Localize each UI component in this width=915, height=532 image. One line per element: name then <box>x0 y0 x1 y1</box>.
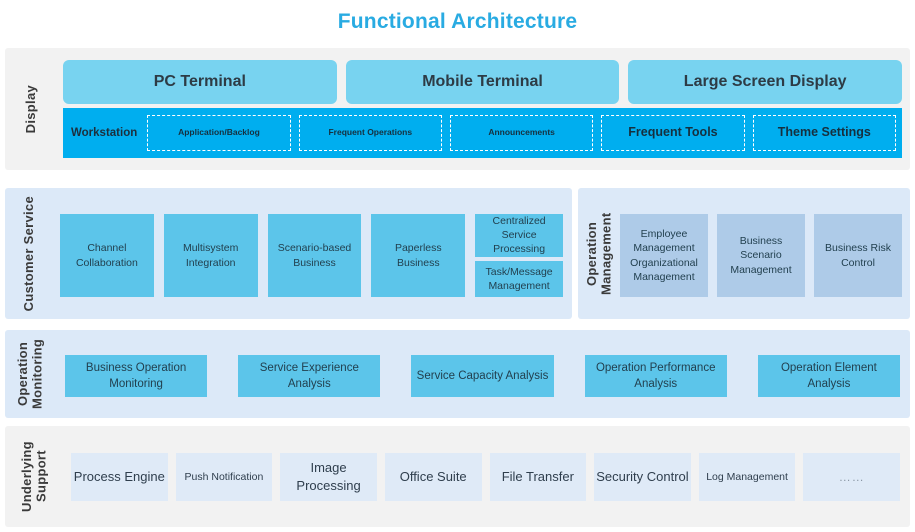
customer-service-box-centralized-service-processing[interactable]: Centralized Service Processing <box>475 214 563 257</box>
customer-service-box-scenario-based-business[interactable]: Scenario-based Business <box>268 214 362 297</box>
underlying-support-label-image-processing: Image Processing <box>282 459 375 494</box>
customer-service-label-channel-collaboration: Channel Collaboration <box>63 241 151 269</box>
operation-management-box-business-scenario-management[interactable]: Business Scenario Management <box>717 214 805 297</box>
operation-monitoring-label-service-experience-analysis: Service Experience Analysis <box>241 360 377 392</box>
workstation-chip-label-application-backlog: Application/Backlog <box>178 128 260 137</box>
customer-service-box-channel-collaboration[interactable]: Channel Collaboration <box>60 214 154 297</box>
customer-service-label-scenario-based-business: Scenario-based Business <box>271 241 359 269</box>
operation-monitoring-section-label-text: Operation Monitoring <box>16 330 45 418</box>
customer-service-section-label-text: Customer Service <box>22 196 37 311</box>
underlying-support-box-push-notification[interactable]: Push Notification <box>176 453 273 501</box>
operation-monitoring-box-service-capacity-analysis[interactable]: Service Capacity Analysis <box>411 355 553 397</box>
underlying-support-box-image-processing[interactable]: Image Processing <box>280 453 377 501</box>
customer-service-label-paperless-business: Paperless Business <box>374 241 462 269</box>
customer-service-label-task-message-management: Task/Message Management <box>478 265 560 293</box>
underlying-support-label-push-notification: Push Notification <box>185 470 264 484</box>
workstation-chip-label-announcements: Announcements <box>488 128 555 137</box>
underlying-support-label-security-control: Security Control <box>596 468 688 486</box>
customer-service-section-label: Customer Service <box>5 188 53 319</box>
operation-monitoring-box-service-experience-analysis[interactable]: Service Experience Analysis <box>238 355 380 397</box>
operation-management-label-business-risk-control: Business Risk Control <box>817 241 899 269</box>
underlying-support-label-log-management: Log Management <box>706 470 788 484</box>
workstation-chip-label-theme-settings: Theme Settings <box>778 126 871 140</box>
operation-management-box-business-risk-control[interactable]: Business Risk Control <box>814 214 902 297</box>
operation-management-section-label: Operation Management <box>578 188 622 319</box>
customer-service-label-centralized-service-processing: Centralized Service Processing <box>478 214 560 257</box>
underlying-support-section: Underlying Support Process Engine Push N… <box>5 426 910 527</box>
operation-monitoring-box-operation-element-analysis[interactable]: Operation Element Analysis <box>758 355 900 397</box>
operation-management-label-business-scenario-management: Business Scenario Management <box>720 234 802 277</box>
terminal-label-pc: PC Terminal <box>154 73 246 91</box>
underlying-support-label-more: …… <box>839 469 865 485</box>
workstation-chip-label-frequent-operations: Frequent Operations <box>328 128 412 137</box>
terminal-row: PC Terminal Mobile Terminal Large Screen… <box>63 60 902 104</box>
customer-service-box-row: Channel Collaboration Multisystem Integr… <box>60 214 563 297</box>
operation-management-box-employee-management[interactable]: Employee Management Organizational Manag… <box>620 214 708 297</box>
terminal-label-mobile: Mobile Terminal <box>422 73 543 91</box>
terminal-box-mobile[interactable]: Mobile Terminal <box>346 60 620 104</box>
underlying-support-box-file-transfer[interactable]: File Transfer <box>490 453 587 501</box>
operation-monitoring-label-service-capacity-analysis: Service Capacity Analysis <box>417 368 549 384</box>
workstation-chip-application-backlog[interactable]: Application/Backlog <box>147 115 290 151</box>
underlying-support-box-process-engine[interactable]: Process Engine <box>71 453 168 501</box>
workstation-bar: Workstation Application/Backlog Frequent… <box>63 108 902 158</box>
underlying-support-label-file-transfer: File Transfer <box>502 468 574 486</box>
customer-service-box-paperless-business[interactable]: Paperless Business <box>371 214 465 297</box>
operation-monitoring-label-business-operation-monitoring: Business Operation Monitoring <box>68 360 204 392</box>
underlying-support-box-office-suite[interactable]: Office Suite <box>385 453 482 501</box>
terminal-box-large-screen[interactable]: Large Screen Display <box>628 60 902 104</box>
workstation-chip-frequent-operations[interactable]: Frequent Operations <box>299 115 442 151</box>
underlying-support-section-label-text: Underlying Support <box>20 426 49 527</box>
operation-management-section-label-text: Operation Management <box>585 188 614 319</box>
workstation-chip-theme-settings[interactable]: Theme Settings <box>753 115 896 151</box>
operation-monitoring-label-operation-element-analysis: Operation Element Analysis <box>761 360 897 392</box>
customer-service-box-multisystem-integration[interactable]: Multisystem Integration <box>164 214 258 297</box>
customer-service-box-task-message-management[interactable]: Task/Message Management <box>475 261 563 297</box>
customer-service-section: Customer Service Channel Collaboration M… <box>5 188 572 319</box>
customer-service-split-column: Centralized Service Processing Task/Mess… <box>475 214 563 297</box>
display-section-label-text: Display <box>24 85 39 133</box>
underlying-support-section-label: Underlying Support <box>5 426 65 527</box>
operation-monitoring-box-operation-performance-analysis[interactable]: Operation Performance Analysis <box>585 355 727 397</box>
operation-monitoring-box-row: Business Operation Monitoring Service Ex… <box>65 355 900 397</box>
customer-service-label-multisystem-integration: Multisystem Integration <box>167 241 255 269</box>
terminal-label-large-screen: Large Screen Display <box>684 73 847 91</box>
workstation-chip-announcements[interactable]: Announcements <box>450 115 593 151</box>
operation-monitoring-box-business-operation-monitoring[interactable]: Business Operation Monitoring <box>65 355 207 397</box>
operation-management-box-row: Employee Management Organizational Manag… <box>620 214 902 297</box>
terminal-box-pc[interactable]: PC Terminal <box>63 60 337 104</box>
underlying-support-box-row: Process Engine Push Notification Image P… <box>71 453 900 501</box>
underlying-support-label-office-suite: Office Suite <box>400 468 467 486</box>
workstation-label: Workstation <box>71 127 139 139</box>
workstation-chip-label-frequent-tools: Frequent Tools <box>628 126 717 140</box>
underlying-support-box-log-management[interactable]: Log Management <box>699 453 796 501</box>
display-section-label: Display <box>5 48 57 170</box>
operation-monitoring-section: Operation Monitoring Business Operation … <box>5 330 910 418</box>
operation-monitoring-section-label: Operation Monitoring <box>5 330 57 418</box>
page-title: Functional Architecture <box>0 10 915 34</box>
operation-management-label-employee-management: Employee Management Organizational Manag… <box>623 227 705 284</box>
underlying-support-box-more[interactable]: …… <box>803 453 900 501</box>
operation-management-section: Operation Management Employee Management… <box>578 188 910 319</box>
operation-monitoring-label-operation-performance-analysis: Operation Performance Analysis <box>588 360 724 392</box>
underlying-support-box-security-control[interactable]: Security Control <box>594 453 691 501</box>
underlying-support-label-process-engine: Process Engine <box>74 468 165 486</box>
workstation-chip-frequent-tools[interactable]: Frequent Tools <box>601 115 744 151</box>
display-section: Display PC Terminal Mobile Terminal Larg… <box>5 48 910 170</box>
